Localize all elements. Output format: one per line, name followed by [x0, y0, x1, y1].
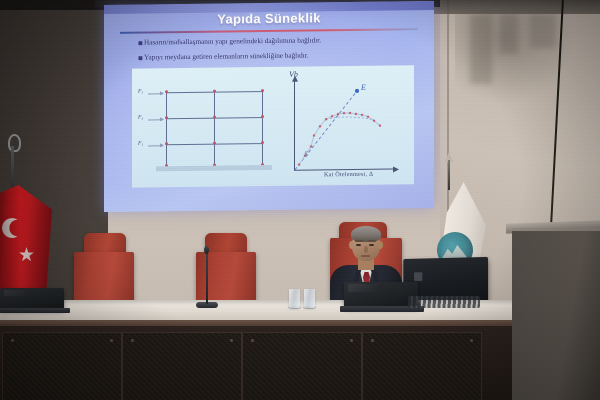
panel-screw-icon [350, 339, 353, 342]
force-arrow-icon [148, 145, 163, 146]
flag-pole [11, 146, 14, 190]
panel-screw-icon [371, 339, 374, 342]
speaker-mouth [361, 255, 370, 257]
frame-diagram: F₃ F₂ F₁ [162, 81, 267, 166]
force-label-f2: F₂ [138, 115, 143, 121]
wall-stain-strip [500, 14, 518, 54]
plastic-hinge [165, 116, 168, 119]
plastic-hinge [213, 116, 216, 119]
wall-stain-strip [530, 14, 556, 48]
frame-column [166, 92, 167, 166]
plastic-hinge [261, 89, 264, 92]
chair-back [196, 252, 256, 304]
frame-ground [156, 165, 272, 171]
speaker-eyebrow [368, 240, 376, 242]
capacity-curve [299, 113, 380, 165]
slide-figure-panel: F₃ F₂ F₁ Vb Kat Ötelenmesi, Δ [132, 65, 414, 187]
speaker-eye [356, 244, 361, 247]
point-e-marker [355, 89, 359, 93]
water-glass [289, 289, 300, 308]
wall-seam [447, 0, 449, 230]
left-wall-top-trim [0, 0, 108, 10]
list-item: ■ Yapıyı meydana getiren elemanların sün… [138, 49, 408, 64]
chart-annotation-e: E [361, 83, 366, 92]
desk-panel [2, 332, 122, 400]
cable-clutter [408, 296, 480, 308]
force-label-f3: F₃ [138, 89, 143, 95]
conference-hall-photo: Yapıda Süneklik ■ Hasarın/mafsallaşmanın… [0, 0, 600, 400]
force-arrow-icon [148, 93, 163, 94]
laptop-speaker[interactable] [344, 282, 418, 308]
desk-panel [362, 332, 482, 400]
desk-panel [242, 332, 362, 400]
water-glass [304, 289, 315, 308]
data-point [355, 112, 358, 115]
panel-screw-icon [230, 339, 233, 342]
microphone-head-icon [204, 246, 209, 254]
force-arrow-icon [148, 119, 163, 120]
data-point [349, 111, 352, 114]
laptop-screen-sheen [348, 284, 378, 292]
laptop-left[interactable] [0, 288, 64, 310]
data-point [313, 134, 316, 137]
plastic-hinge [261, 141, 264, 144]
plastic-hinge [165, 142, 168, 145]
laptop-screen-sheen [4, 290, 30, 297]
projection-screen: Yapıda Süneklik ■ Hasarın/mafsallaşmanın… [104, 1, 434, 212]
panel-screw-icon [251, 339, 254, 342]
frame-column [214, 92, 215, 166]
chart-curves [280, 71, 408, 183]
panel-screw-icon [131, 339, 134, 342]
speaker-nose [364, 246, 368, 253]
flag-finial-icon [8, 134, 21, 152]
panel-screw-icon [11, 339, 14, 342]
plastic-hinge [165, 90, 168, 93]
plastic-hinge [213, 142, 216, 145]
list-item: ■ Hasarın/mafsallaşmanın yapı genelindek… [138, 34, 408, 49]
bullet-text: Yapıyı meydana getiren elemanların sünek… [144, 51, 309, 64]
speaker-eye [369, 244, 374, 247]
data-point [367, 115, 370, 118]
speaker-ear [349, 241, 354, 249]
chart-annotation-s: S [304, 150, 308, 159]
frame-column [262, 91, 263, 165]
data-point [373, 119, 376, 122]
monitor-logo-icon [414, 272, 422, 281]
wall-stain-strip [470, 14, 492, 84]
bullet-text: Hasarın/mafsallaşmanın yapı genelindeki … [144, 35, 321, 48]
force-label-f1: F₁ [138, 141, 143, 147]
laptop-base [0, 308, 70, 313]
speaker-ear [378, 241, 383, 249]
speaker-eyebrow [355, 240, 363, 242]
flag-pole [448, 160, 450, 190]
data-point [331, 115, 334, 118]
ceiling-beam-right [430, 0, 600, 14]
chair-back [74, 252, 134, 304]
pushover-chart: Vb Kat Ötelenmesi, Δ [280, 71, 408, 183]
plastic-hinge [213, 90, 216, 93]
desk-panel [122, 332, 242, 400]
panel-screw-icon [110, 339, 113, 342]
microphone-stem [206, 252, 208, 304]
plastic-hinge [261, 115, 264, 118]
panel-screw-icon [470, 339, 473, 342]
slide-bullet-list: ■ Hasarın/mafsallaşmanın yapı genelindek… [138, 34, 408, 67]
lectern: KAYSERİ BÜYÜKŞEHİR BELEDİYESİ 1869 [512, 228, 600, 400]
